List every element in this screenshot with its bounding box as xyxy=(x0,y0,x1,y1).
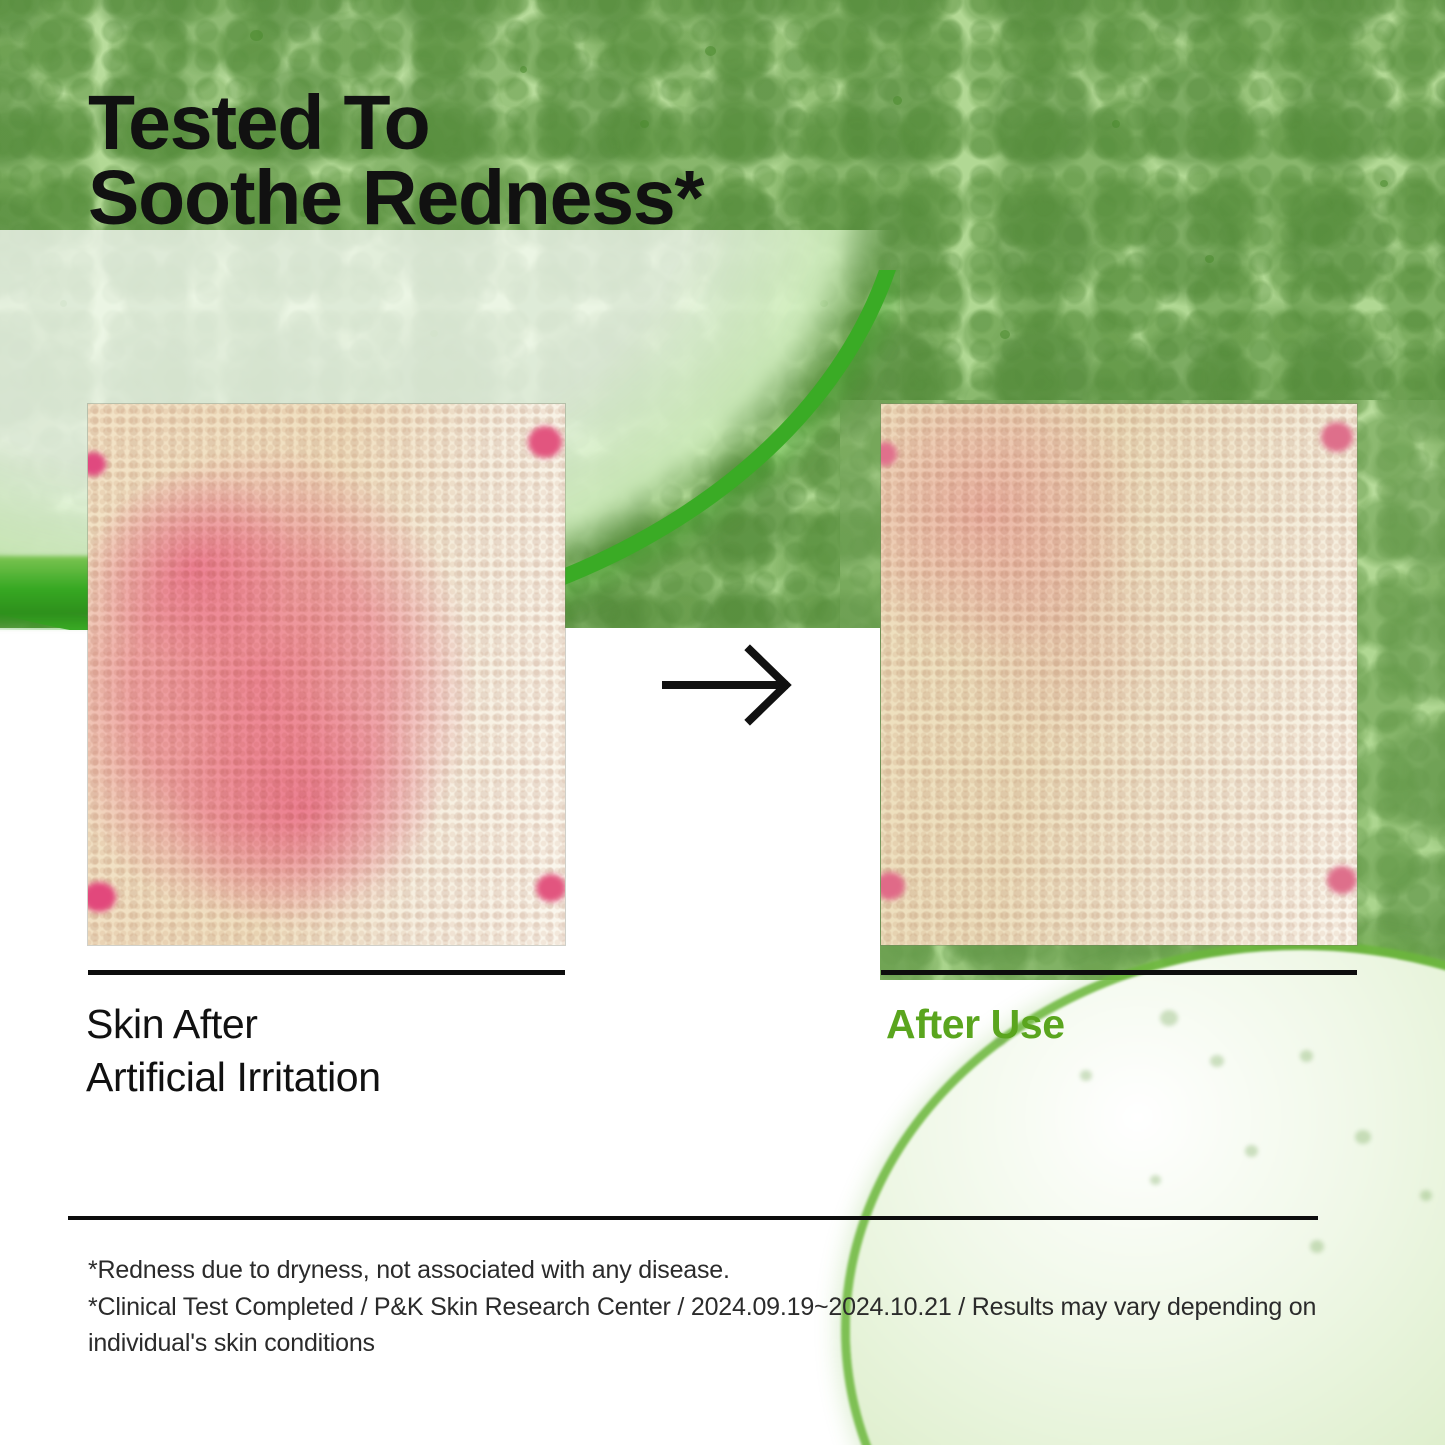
footnote-divider xyxy=(68,1216,1318,1220)
footnote-line-2: *Clinical Test Completed / P&K Skin Rese… xyxy=(88,1289,1353,1362)
gel-blob-speck xyxy=(1150,1175,1161,1185)
before-image xyxy=(88,404,565,945)
skin-marker-dot xyxy=(536,874,565,902)
arrow-right-icon xyxy=(660,640,800,730)
skin-grain-texture xyxy=(881,404,1357,945)
gel-blob-speck xyxy=(1080,1070,1092,1081)
gel-blob-speck xyxy=(1210,1055,1224,1067)
after-caption: After Use xyxy=(886,998,1065,1051)
before-caption: Skin After Artificial Irritation xyxy=(86,998,381,1105)
gel-speck xyxy=(1380,180,1388,187)
skin-marker-dot xyxy=(528,426,562,458)
skin-marker-dot xyxy=(1327,866,1357,894)
gel-speck xyxy=(1205,255,1214,263)
skin-grain-texture xyxy=(88,404,565,945)
footnotes: *Redness due to dryness, not associated … xyxy=(88,1252,1353,1362)
after-underline xyxy=(881,970,1357,975)
promo-banner: Tested To Soothe Redness* Skin After Art… xyxy=(0,0,1445,1445)
after-image xyxy=(881,404,1357,945)
gel-blob-speck xyxy=(1355,1130,1371,1144)
gel-blob-speck xyxy=(1300,1050,1313,1062)
skin-marker-dot xyxy=(1321,422,1353,452)
gel-blob-speck xyxy=(1420,1190,1432,1201)
gel-speck xyxy=(520,66,527,73)
gel-speck xyxy=(1000,330,1010,339)
page-title: Tested To Soothe Redness* xyxy=(88,86,703,237)
gel-speck xyxy=(250,30,263,41)
gel-speck xyxy=(705,46,716,56)
gel-blob-speck xyxy=(1245,1145,1258,1157)
gel-speck xyxy=(893,96,902,105)
gel-speck xyxy=(1112,120,1120,128)
gel-blob-speck xyxy=(1160,1010,1178,1026)
before-underline xyxy=(88,970,565,975)
footnote-line-1: *Redness due to dryness, not associated … xyxy=(88,1252,1353,1289)
